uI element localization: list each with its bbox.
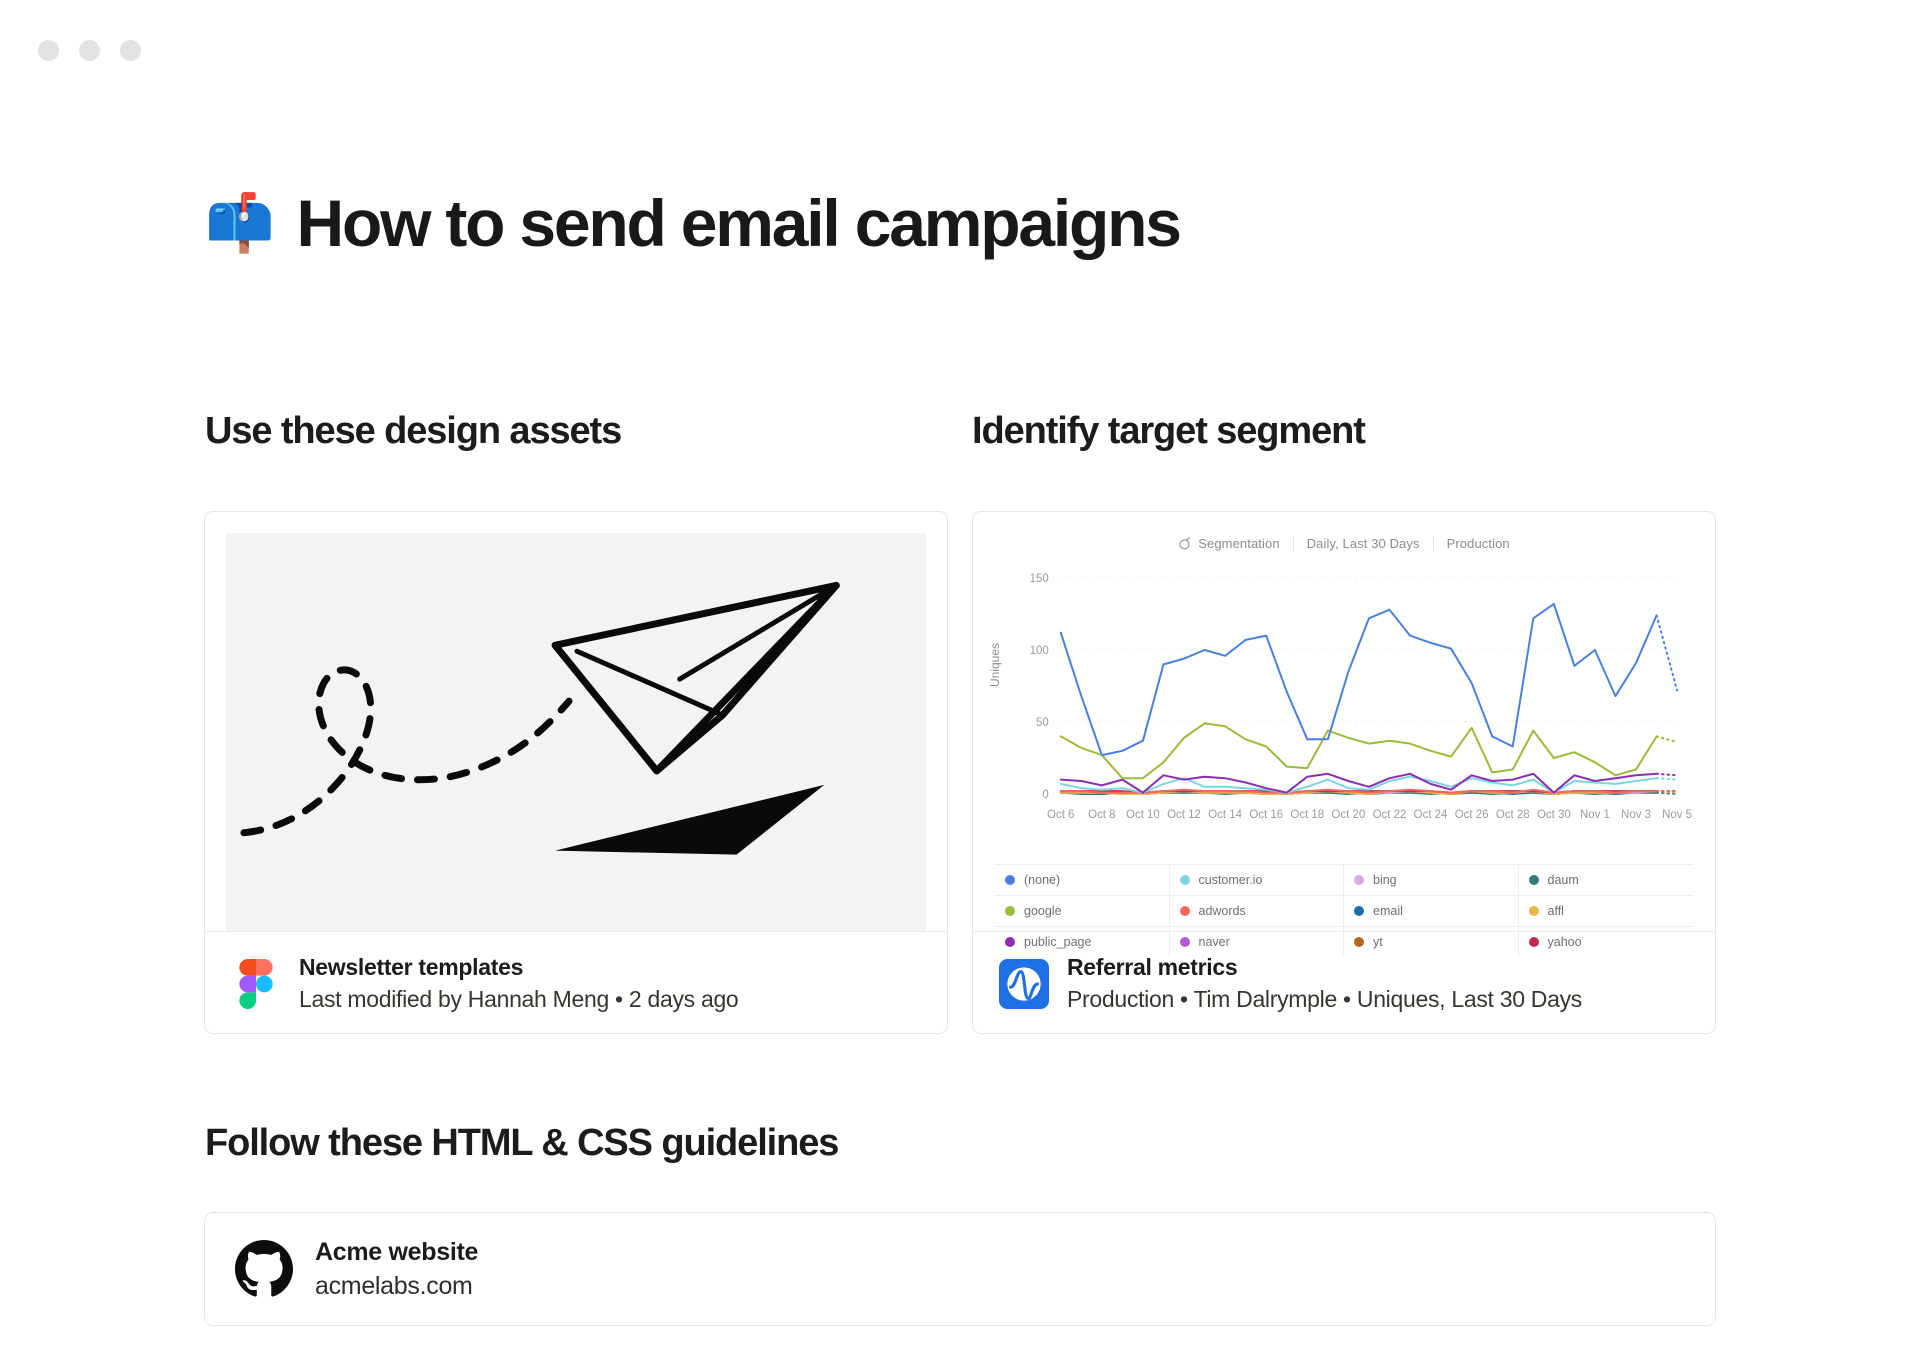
legend-item[interactable]: bing (1344, 865, 1519, 896)
chart-legend: (none)customer.iobingdaumgoogleadwordsem… (995, 864, 1693, 957)
legend-label: bing (1373, 873, 1397, 887)
legend-item[interactable]: yahoo (1519, 927, 1694, 957)
svg-text:Oct 20: Oct 20 (1332, 809, 1366, 821)
svg-text:Oct 24: Oct 24 (1414, 809, 1448, 821)
figma-card-title: Newsletter templates (299, 954, 738, 981)
github-card-subtitle: acmelabs.com (315, 1272, 478, 1301)
chart-plot-area: 050100150Oct 6Oct 8Oct 10Oct 12Oct 14Oct… (973, 558, 1715, 858)
legend-swatch (1005, 937, 1015, 947)
card-newsletter-templates[interactable]: Newsletter templates Last modified by Ha… (204, 511, 948, 1034)
chart-breadcrumb: Segmentation Daily, Last 30 Days Product… (973, 536, 1715, 551)
legend-swatch (1180, 875, 1190, 885)
legend-swatch (1180, 937, 1190, 947)
github-card-text: Acme website acmelabs.com (315, 1238, 478, 1301)
legend-swatch (1180, 906, 1190, 916)
section-heading-html-css-guidelines: Follow these HTML & CSS guidelines (205, 1122, 838, 1165)
section-heading-design-assets: Use these design assets (205, 410, 621, 453)
legend-item[interactable]: email (1344, 896, 1519, 927)
svg-text:Oct 14: Oct 14 (1208, 809, 1242, 821)
chart-card-subtitle: Production • Tim Dalrymple • Uniques, La… (1067, 986, 1582, 1013)
paper-airplane-sketch-icon (226, 533, 926, 931)
legend-swatch (1529, 937, 1539, 947)
minimize-dot[interactable] (38, 40, 59, 61)
legend-label: affl (1548, 904, 1564, 918)
legend-item[interactable]: customer.io (1170, 865, 1345, 896)
legend-label: customer.io (1199, 873, 1263, 887)
card-acme-website[interactable]: Acme website acmelabs.com (204, 1212, 1716, 1326)
svg-text:Oct 8: Oct 8 (1088, 809, 1115, 821)
chart-crumb-segmentation: Segmentation (1165, 536, 1293, 551)
legend-label: public_page (1024, 935, 1091, 949)
legend-swatch (1354, 875, 1364, 885)
paper-airplane-illustration (226, 533, 926, 931)
chart-card-text: Referral metrics Production • Tim Dalrym… (1067, 954, 1582, 1013)
legend-label: naver (1199, 935, 1230, 949)
legend-swatch (1005, 875, 1015, 885)
page-title: 📫 How to send email campaigns (205, 185, 1180, 261)
amplitude-icon (1178, 537, 1191, 550)
svg-text:Oct 6: Oct 6 (1047, 809, 1074, 821)
figma-logo-icon (231, 959, 281, 1009)
legend-item[interactable]: affl (1519, 896, 1694, 927)
mailbox-emoji-icon: 📫 (205, 195, 273, 251)
svg-text:Oct 26: Oct 26 (1455, 809, 1489, 821)
legend-label: email (1373, 904, 1403, 918)
legend-label: adwords (1199, 904, 1246, 918)
legend-label: daum (1548, 873, 1579, 887)
legend-swatch (1354, 906, 1364, 916)
legend-swatch (1529, 906, 1539, 916)
svg-text:Oct 22: Oct 22 (1373, 809, 1407, 821)
svg-text:Nov 3: Nov 3 (1621, 809, 1651, 821)
figma-preview (205, 512, 947, 931)
svg-text:150: 150 (1030, 573, 1049, 585)
legend-label: (none) (1024, 873, 1060, 887)
figma-card-text: Newsletter templates Last modified by Ha… (299, 954, 738, 1013)
legend-item[interactable]: (none) (995, 865, 1170, 896)
legend-item[interactable]: daum (1519, 865, 1694, 896)
line-chart: 050100150Oct 6Oct 8Oct 10Oct 12Oct 14Oct… (973, 558, 1715, 858)
chart-card-title: Referral metrics (1067, 954, 1582, 981)
crumb-text: Segmentation (1198, 536, 1279, 551)
close-dot[interactable] (120, 40, 141, 61)
svg-text:Oct 30: Oct 30 (1537, 809, 1571, 821)
svg-text:50: 50 (1036, 717, 1049, 729)
chart-crumb-range: Daily, Last 30 Days (1294, 536, 1434, 551)
legend-item[interactable]: naver (1170, 927, 1345, 957)
github-logo-icon (235, 1240, 293, 1298)
svg-text:0: 0 (1042, 789, 1048, 801)
section-heading-target-segment: Identify target segment (972, 410, 1365, 453)
legend-item[interactable]: yt (1344, 927, 1519, 957)
github-card-footer: Acme website acmelabs.com (205, 1213, 1715, 1325)
legend-label: google (1024, 904, 1062, 918)
figma-card-footer: Newsletter templates Last modified by Ha… (205, 931, 947, 1034)
svg-text:Oct 10: Oct 10 (1126, 809, 1160, 821)
svg-text:Oct 28: Oct 28 (1496, 809, 1530, 821)
legend-swatch (1529, 875, 1539, 885)
legend-item[interactable]: adwords (1170, 896, 1345, 927)
svg-text:Oct 16: Oct 16 (1249, 809, 1283, 821)
svg-text:Nov 5: Nov 5 (1662, 809, 1692, 821)
legend-swatch (1005, 906, 1015, 916)
svg-text:Nov 1: Nov 1 (1580, 809, 1610, 821)
figma-card-subtitle: Last modified by Hannah Meng • 2 days ag… (299, 986, 738, 1013)
amplitude-logo-icon (999, 959, 1049, 1009)
svg-text:Oct 18: Oct 18 (1290, 809, 1324, 821)
maximize-dot[interactable] (79, 40, 100, 61)
chart-preview: Segmentation Daily, Last 30 Days Product… (973, 512, 1715, 931)
chart-crumb-environment: Production (1434, 536, 1523, 551)
github-card-title: Acme website (315, 1238, 478, 1267)
page-title-text: How to send email campaigns (297, 185, 1180, 261)
window-controls (38, 40, 141, 61)
legend-item[interactable]: public_page (995, 927, 1170, 957)
page-root: 📫 How to send email campaigns Use these … (0, 0, 1920, 1350)
legend-label: yt (1373, 935, 1383, 949)
legend-swatch (1354, 937, 1364, 947)
legend-label: yahoo (1548, 935, 1582, 949)
card-referral-metrics[interactable]: Segmentation Daily, Last 30 Days Product… (972, 511, 1716, 1034)
svg-text:100: 100 (1030, 645, 1049, 657)
legend-item[interactable]: google (995, 896, 1170, 927)
svg-text:Oct 12: Oct 12 (1167, 809, 1201, 821)
